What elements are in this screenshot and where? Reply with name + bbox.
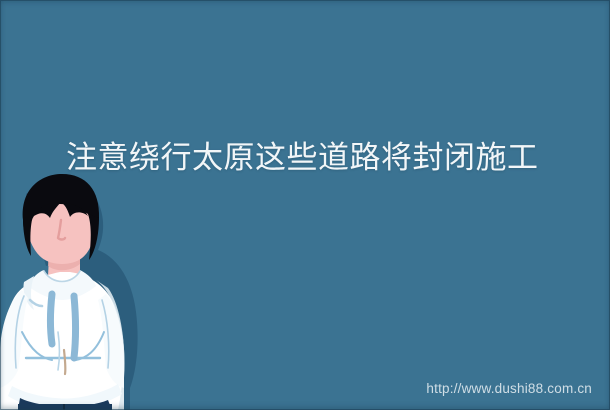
drawstring-right [74, 296, 76, 358]
drawstring-tip [64, 350, 65, 374]
news-cover-canvas: 注意绕行太原这些道路将封闭施工 http://www.dushi88.com.c… [0, 0, 610, 410]
source-url-watermark: http://www.dushi88.com.cn [426, 380, 592, 398]
drawstring-left [51, 294, 53, 344]
person-illustration [0, 172, 160, 410]
page-title: 注意绕行太原这些道路将封闭施工 [66, 138, 566, 178]
